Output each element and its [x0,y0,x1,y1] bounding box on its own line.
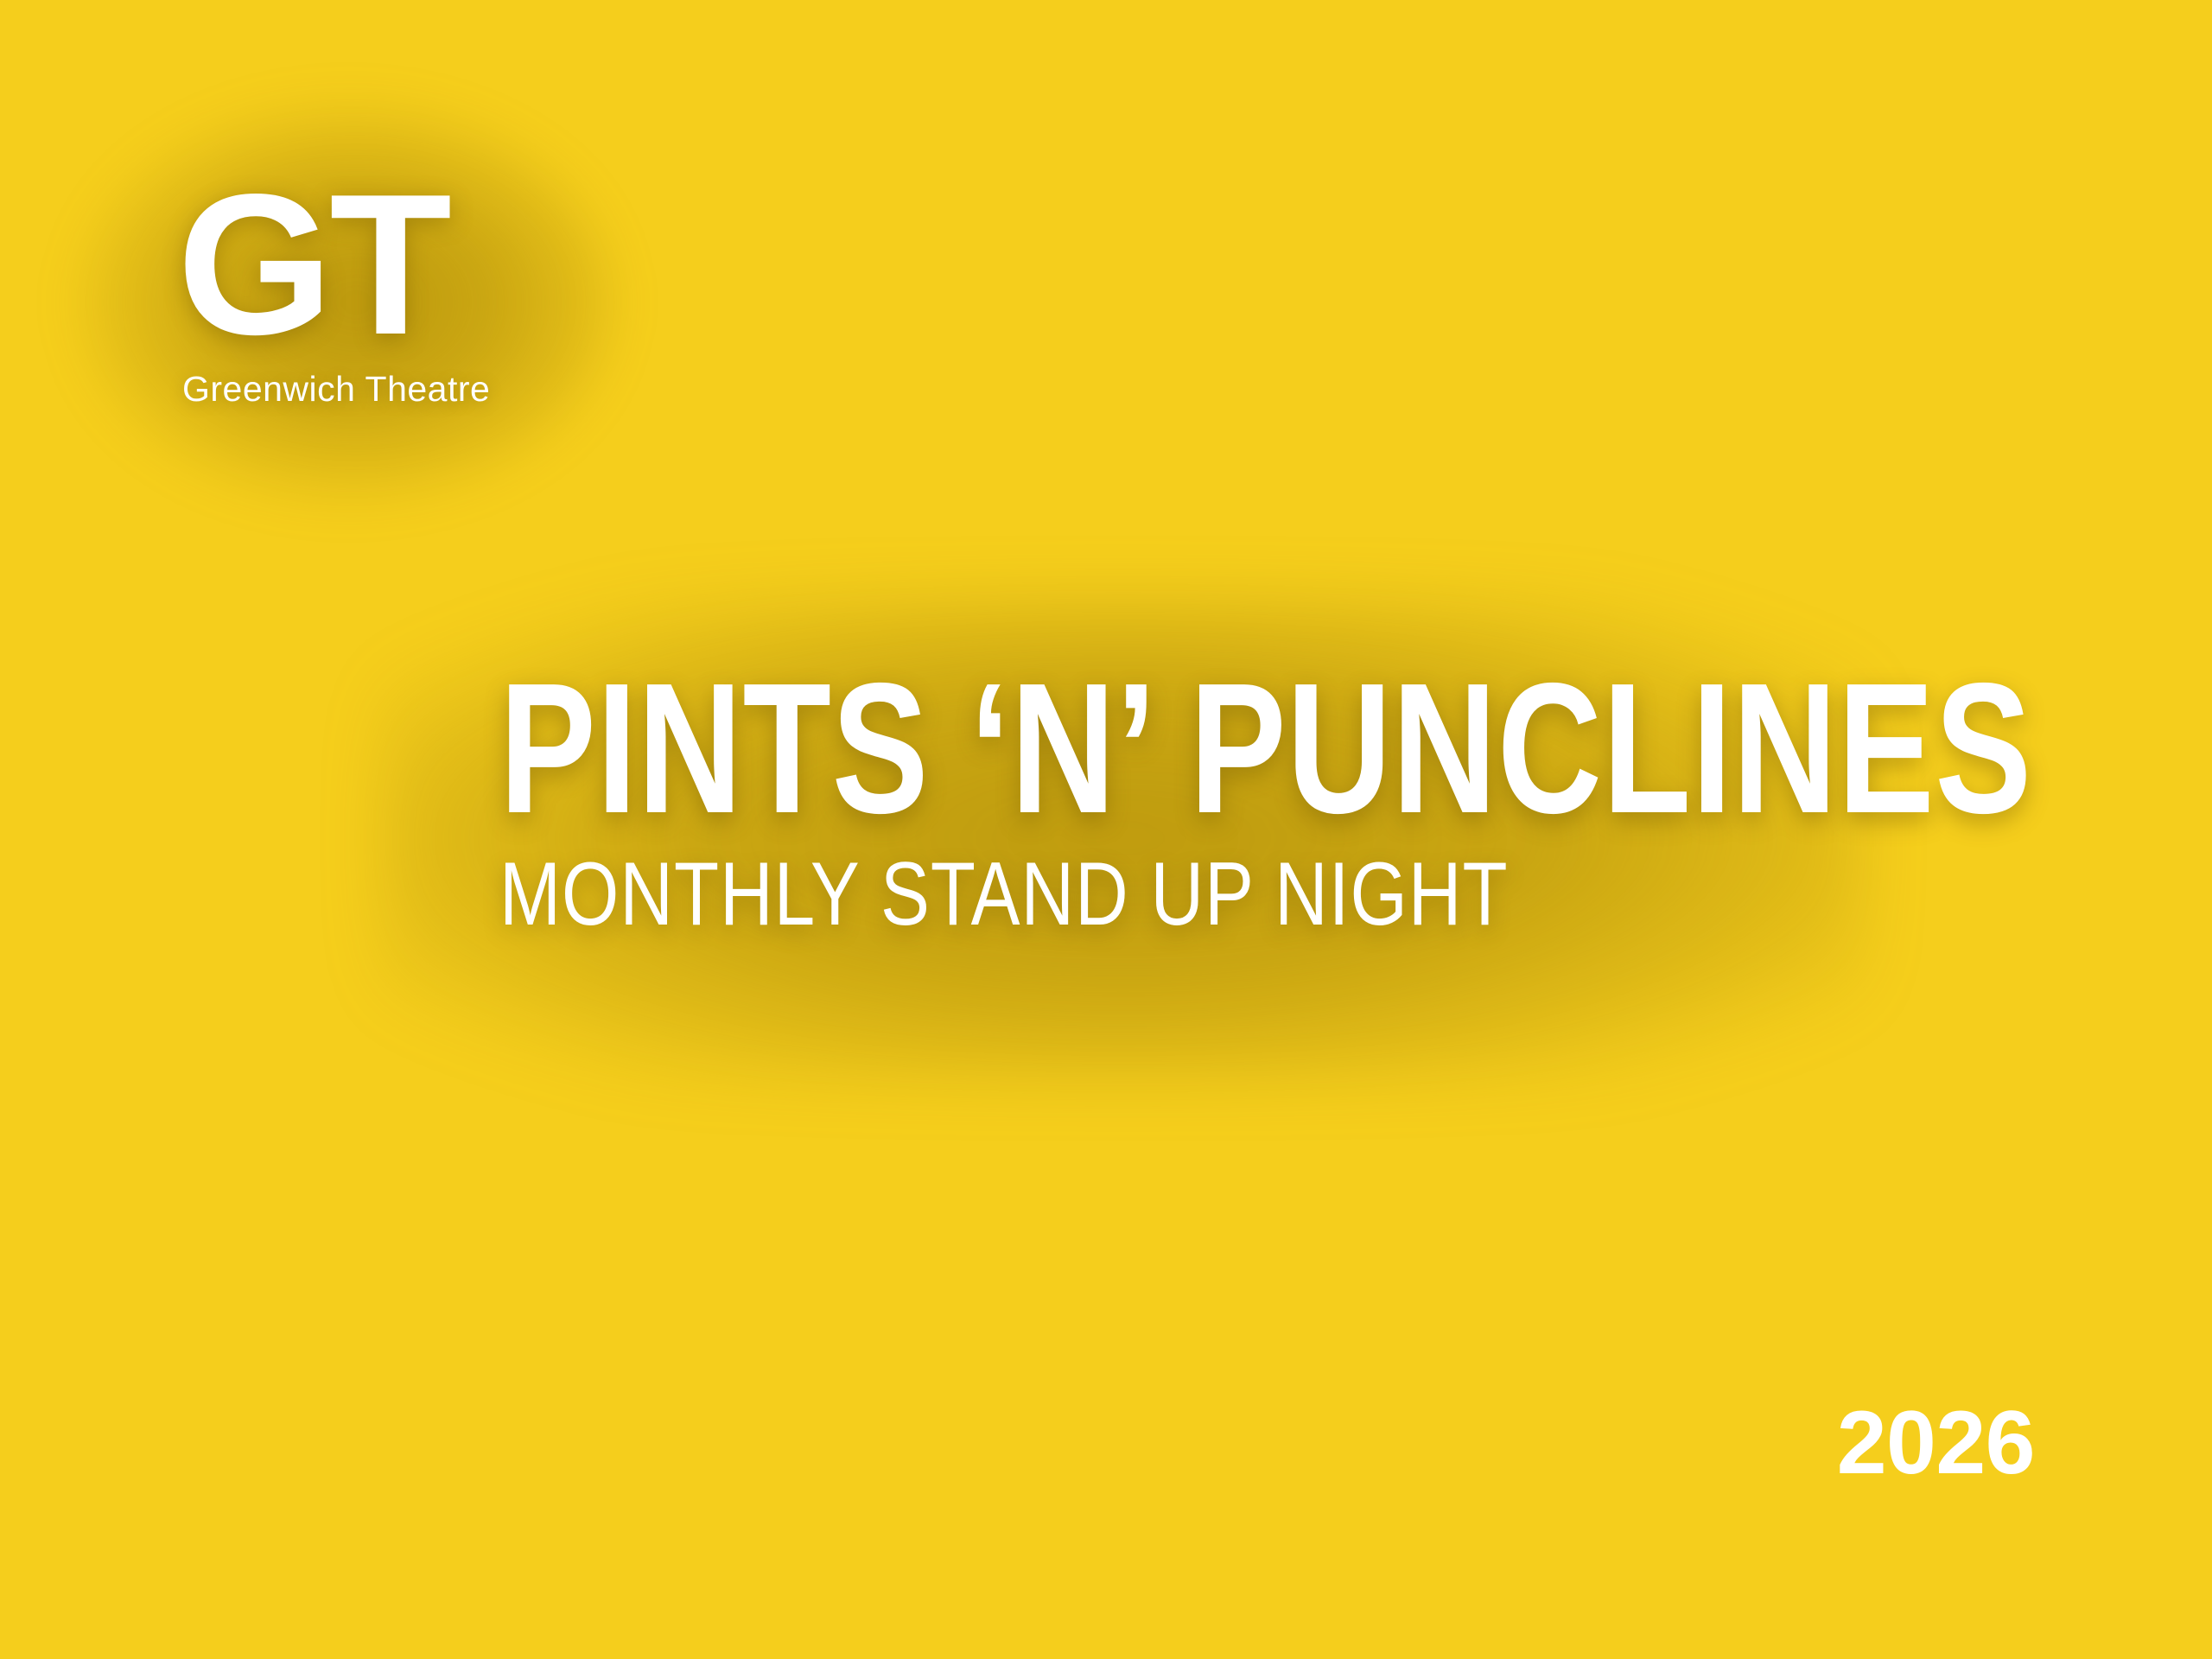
year-block: 2026 [1837,1398,2035,1488]
headline-block: PINTS ‘N’ PUNCLINES MONTHLY STAND UP NIG… [499,674,1735,937]
logo-organisation-name: Greenwich Theatre [182,369,540,410]
show-subtitle: MONTHLY STAND UP NIGHT [499,854,1513,937]
logo-monogram: GT [177,177,540,353]
greenwich-theatre-logo[interactable]: GT Greenwich Theatre [177,177,540,410]
season-year: 2026 [1837,1398,2035,1488]
show-title: PINTS ‘N’ PUNCLINES [499,674,1463,823]
poster-canvas: GT Greenwich Theatre PINTS ‘N’ PUNCLINES… [0,0,2212,1659]
